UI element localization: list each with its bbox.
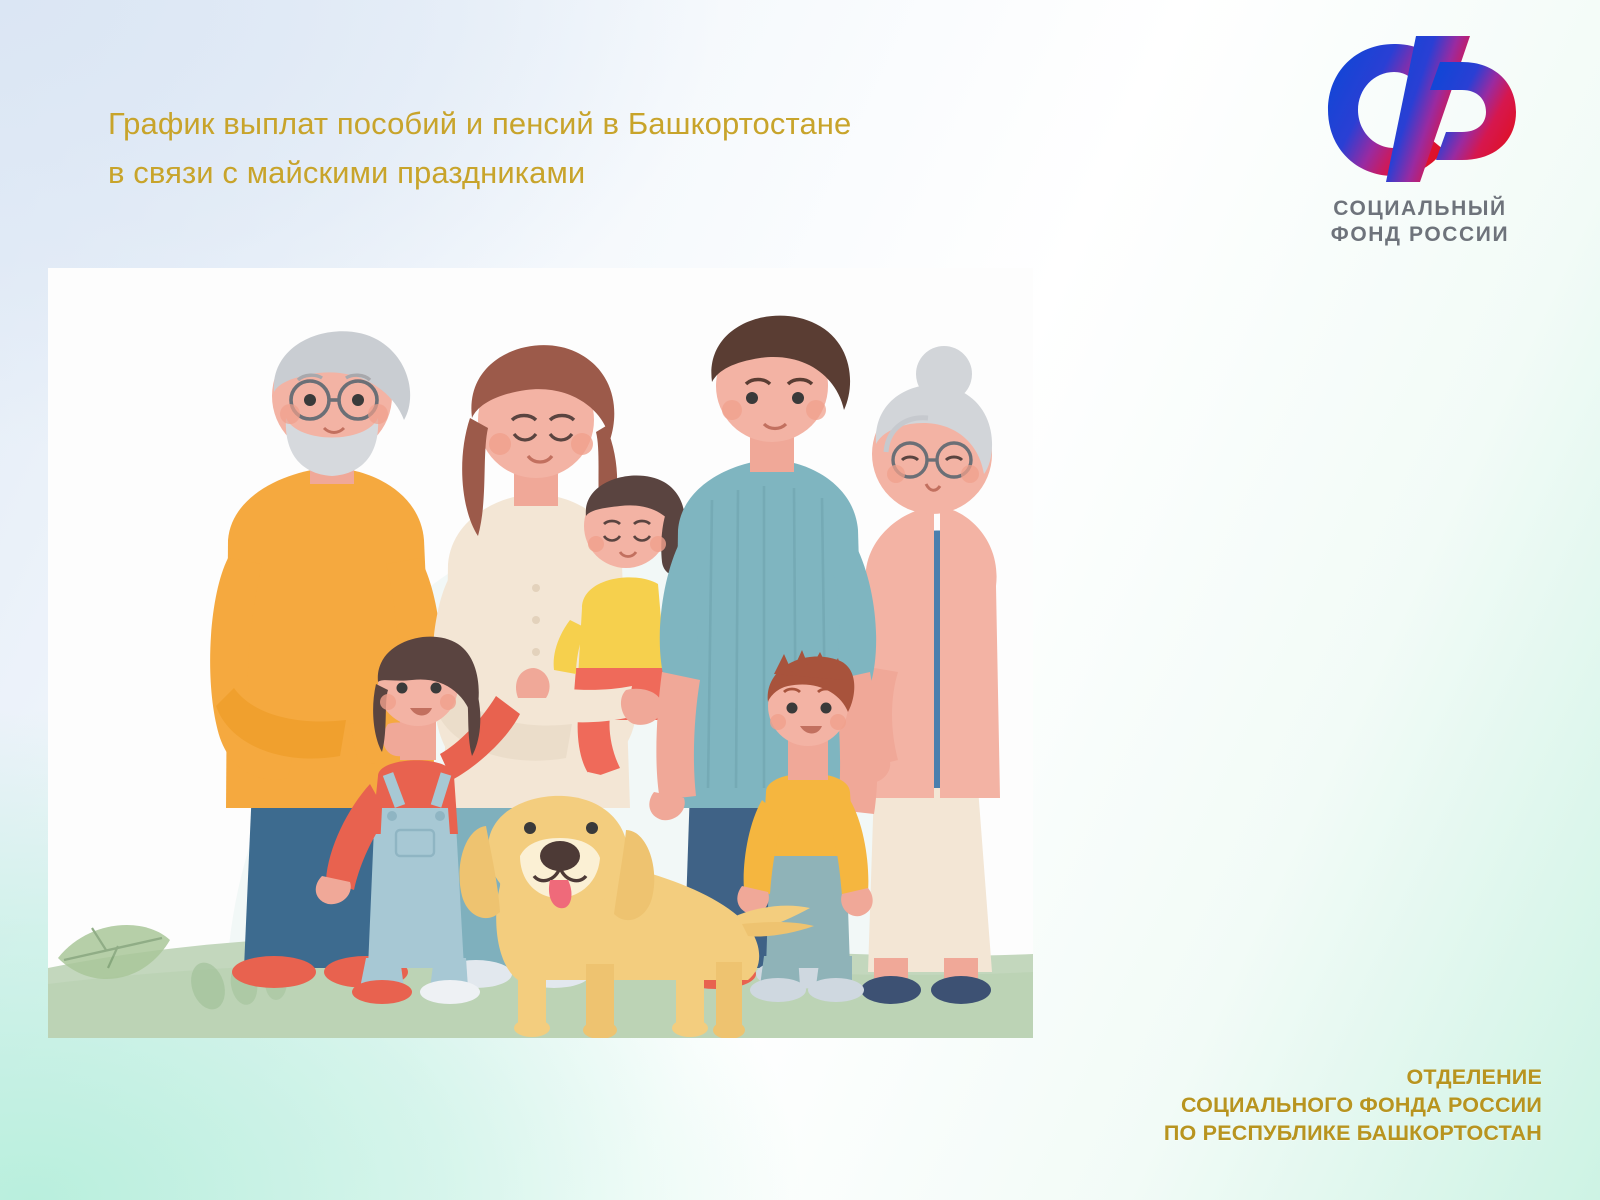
sfr-logo: СОЦИАЛЬНЫЙ ФОНД РОССИИ <box>1286 28 1554 247</box>
logo-wordmark: СОЦИАЛЬНЫЙ ФОНД РОССИИ <box>1286 196 1554 247</box>
sfr-monogram-icon <box>1320 28 1520 190</box>
figure-grandmother <box>857 346 1000 1004</box>
family-illustration-svg <box>48 268 1033 1038</box>
poster-canvas: График выплат пособий и пенсий в Башкорт… <box>0 0 1600 1200</box>
footer-organization: ОТДЕЛЕНИЕ СОЦИАЛЬНОГО ФОНДА РОССИИ ПО РЕ… <box>1164 1064 1542 1148</box>
family-illustration <box>48 268 1033 1038</box>
page-title: График выплат пособий и пенсий в Башкорт… <box>108 100 1108 198</box>
